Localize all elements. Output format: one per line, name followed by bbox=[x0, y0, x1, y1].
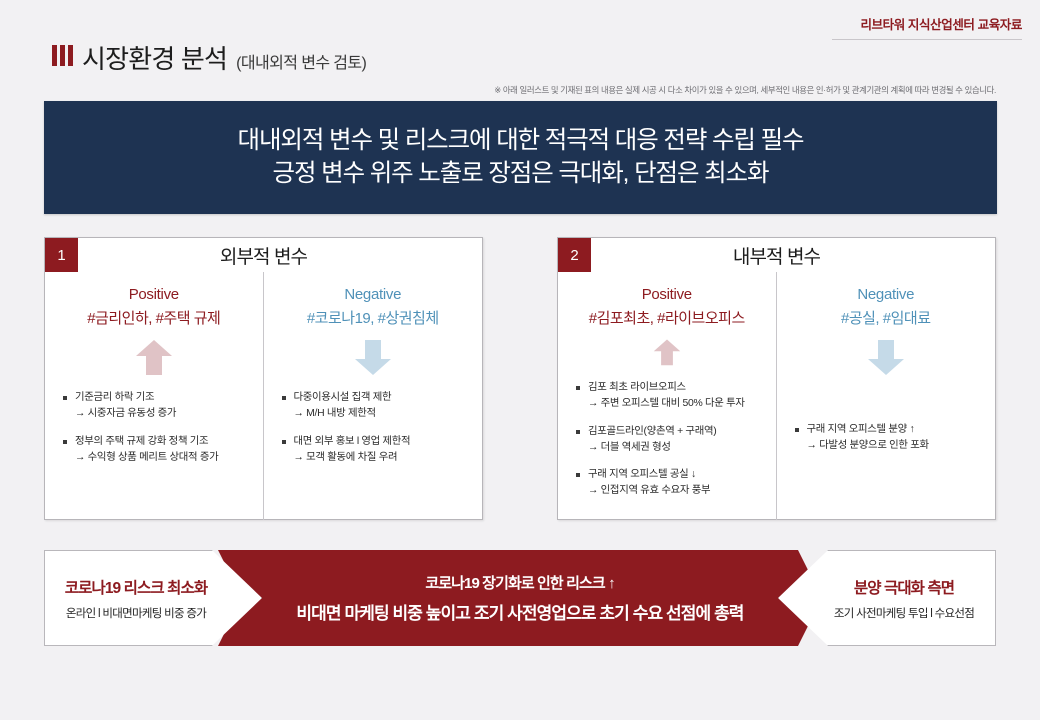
headline-line-2: 긍정 변수 위주 노출로 장점은 극대화, 단점은 최소화 bbox=[273, 162, 769, 187]
page-title-sub: (대내외적 변수 검토) bbox=[236, 56, 366, 72]
conclusion-left-title: 코로나19 리스크 최소화 bbox=[65, 576, 208, 598]
list-item: 대면 외부 홍보 l 영업 제한적 → 모객 활동에 차질 우려 bbox=[282, 434, 471, 466]
arrow-up-icon bbox=[647, 338, 687, 366]
bullet-dot-icon bbox=[576, 430, 580, 434]
bullet-line: → 더블 역세권 형성 bbox=[588, 440, 716, 456]
card-2-negative-column: Negative #공실, #임대료 구래 지역 오피스텔 분양 ↑ → 다발성… bbox=[777, 272, 996, 520]
positive-label-2: Positive bbox=[642, 285, 692, 305]
page-title-main: 시장환경 분석 bbox=[82, 46, 227, 72]
positive-tags-1: #금리인하, #주택 규제 bbox=[87, 307, 220, 328]
bullet-line: → 인접지역 유효 수요자 풍부 bbox=[588, 483, 710, 499]
card-internal-variables: 2 내부적 변수 Positive #김포최초, #라이브오피스 김포 최초 라… bbox=[557, 237, 996, 520]
bullet-dot-icon bbox=[576, 386, 580, 390]
bullet-line: 정부의 주택 규제 강화 정책 기조 bbox=[75, 434, 218, 450]
list-item: 기준금리 하락 기조 → 시중자금 유동성 증가 bbox=[63, 390, 251, 422]
arrow-down-icon bbox=[866, 338, 906, 376]
negative-tags-2: #공실, #임대료 bbox=[841, 307, 931, 328]
conclusion-center-line-2: 비대면 마케팅 비중 높이고 조기 사전영업으로 초기 수요 선점에 총력 bbox=[296, 599, 743, 624]
bullet-line: → 주변 오피스텔 대비 50% 다운 투자 bbox=[588, 396, 745, 412]
bullet-line: → 모객 활동에 차질 우려 bbox=[294, 450, 411, 466]
bullet-line: 다중이용시설 집객 제한 bbox=[294, 390, 392, 406]
variable-cards: 1 외부적 변수 Positive #금리인하, #주택 규제 기준금리 하락 … bbox=[44, 237, 996, 520]
conclusion-center-band: 코로나19 장기화로 인한 리스크 ↑ 비대면 마케팅 비중 높이고 조기 사전… bbox=[218, 550, 822, 646]
card-badge-1: 1 bbox=[45, 238, 78, 272]
headline-line-1: 대내외적 변수 및 리스크에 대한 적극적 대응 전략 수립 필수 bbox=[238, 129, 804, 154]
brand-divider bbox=[832, 39, 1022, 40]
conclusion-center-line-1: 코로나19 장기화로 인한 리스크 ↑ bbox=[425, 572, 614, 593]
list-item: 구래 지역 오피스텔 분양 ↑ → 다발성 분양으로 인한 포화 bbox=[795, 422, 984, 454]
list-item: 구래 지역 오피스텔 공실 ↓ → 인접지역 유효 수요자 풍부 bbox=[576, 467, 764, 499]
bullet-dot-icon bbox=[795, 428, 799, 432]
bullet-dot-icon bbox=[576, 473, 580, 477]
bullet-dot-icon bbox=[282, 396, 286, 400]
card-2-positive-column: Positive #김포최초, #라이브오피스 김포 최초 라이브오피스 → 주… bbox=[558, 272, 777, 520]
card-badge-2: 2 bbox=[558, 238, 591, 272]
positive-bullets-1: 기준금리 하락 기조 → 시중자금 유동성 증가 정부의 주택 규제 강화 정책… bbox=[57, 390, 251, 477]
list-item: 김포골드라인(양촌역 + 구래역) → 더블 역세권 형성 bbox=[576, 424, 764, 456]
conclusion-left-sub: 온라인 l 비대면마케팅 비중 증가 bbox=[66, 605, 206, 621]
bullet-line: 대면 외부 홍보 l 영업 제한적 bbox=[294, 434, 411, 450]
list-item: 김포 최초 라이브오피스 → 주변 오피스텔 대비 50% 다운 투자 bbox=[576, 380, 764, 412]
bullet-line: → 다발성 분양으로 인한 포화 bbox=[807, 438, 929, 454]
negative-tags-1: #코로나19, #상권침체 bbox=[307, 307, 439, 328]
bullet-line: 김포골드라인(양촌역 + 구래역) bbox=[588, 424, 716, 440]
positive-bullets-2: 김포 최초 라이브오피스 → 주변 오피스텔 대비 50% 다운 투자 김포골드… bbox=[570, 380, 764, 510]
headline-banner: 대내외적 변수 및 리스크에 대한 적극적 대응 전략 수립 필수 긍정 변수 … bbox=[44, 101, 997, 214]
negative-bullets-2: 구래 지역 오피스텔 분양 ↑ → 다발성 분양으로 인한 포화 bbox=[789, 422, 984, 465]
bullet-line: → 시중자금 유동성 증가 bbox=[75, 406, 176, 422]
bullet-line: 김포 최초 라이브오피스 bbox=[588, 380, 745, 396]
list-item: 정부의 주택 규제 강화 정책 기조 → 수익형 상품 메리트 상대적 증가 bbox=[63, 434, 251, 466]
brand-title: 리브타워 지식산업센터 교육자료 bbox=[832, 14, 1022, 33]
card-1-negative-column: Negative #코로나19, #상권침체 다중이용시설 집객 제한 → M/… bbox=[264, 272, 483, 520]
bullet-dot-icon bbox=[282, 440, 286, 444]
card-external-variables: 1 외부적 변수 Positive #금리인하, #주택 규제 기준금리 하락 … bbox=[44, 237, 483, 520]
bullet-line: → 수익형 상품 메리트 상대적 증가 bbox=[75, 450, 218, 466]
title-bars-icon bbox=[52, 45, 73, 66]
disclaimer-note: ※ 아래 일러스트 및 기재된 표의 내용은 실제 시공 시 다소 차이가 있을… bbox=[494, 84, 996, 96]
bullet-line: 구래 지역 오피스텔 공실 ↓ bbox=[588, 467, 710, 483]
conclusion-strip: 코로나19 리스크 최소화 온라인 l 비대면마케팅 비중 증가 코로나19 장… bbox=[44, 550, 996, 646]
arrow-up-icon bbox=[134, 338, 174, 376]
bullet-line: 기준금리 하락 기조 bbox=[75, 390, 176, 406]
conclusion-right-chevron: 분양 극대화 측면 조기 사전마케팅 투입 l 수요선점 bbox=[778, 550, 996, 646]
bullet-dot-icon bbox=[63, 396, 67, 400]
card-1-positive-column: Positive #금리인하, #주택 규제 기준금리 하락 기조 → 시중자금… bbox=[45, 272, 264, 520]
list-item: 다중이용시설 집객 제한 → M/H 내방 제한적 bbox=[282, 390, 471, 422]
page-title: 시장환경 분석 (대내외적 변수 검토) bbox=[52, 46, 366, 72]
card-title-2: 내부적 변수 bbox=[558, 238, 995, 272]
brand-header: 리브타워 지식산업센터 교육자료 bbox=[832, 14, 1022, 40]
positive-label-1: Positive bbox=[129, 285, 179, 305]
bullet-line: → M/H 내방 제한적 bbox=[294, 406, 392, 422]
negative-label-2: Negative bbox=[857, 285, 914, 305]
negative-label-1: Negative bbox=[344, 285, 401, 305]
bullet-line: 구래 지역 오피스텔 분양 ↑ bbox=[807, 422, 929, 438]
card-title-1: 외부적 변수 bbox=[45, 238, 482, 272]
conclusion-right-title: 분양 극대화 측면 bbox=[854, 576, 954, 598]
bullet-dot-icon bbox=[63, 440, 67, 444]
arrow-down-icon bbox=[353, 338, 393, 376]
positive-tags-2: #김포최초, #라이브오피스 bbox=[589, 307, 745, 328]
conclusion-right-sub: 조기 사전마케팅 투입 l 수요선점 bbox=[834, 605, 974, 621]
negative-bullets-1: 다중이용시설 집객 제한 → M/H 내방 제한적 대면 외부 홍보 l 영업 … bbox=[276, 390, 471, 477]
